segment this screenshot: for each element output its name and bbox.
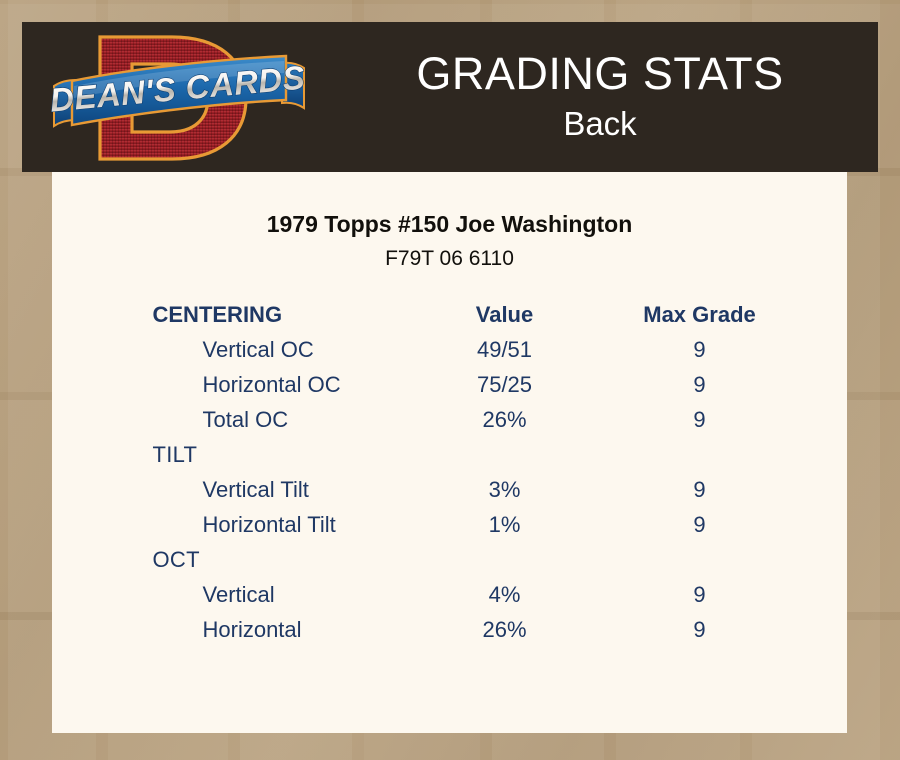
- stat-value: 75/25: [410, 367, 600, 402]
- table-row: Horizontal OC75/259: [100, 367, 800, 402]
- stat-value: 26%: [410, 402, 600, 437]
- card-heading: 1979 Topps #150 Joe Washington F79T 06 6…: [52, 172, 847, 272]
- column-header-max-grade: Max Grade: [600, 297, 800, 332]
- header-bar: DEAN'S CARDS GRADING STATS Back: [22, 22, 878, 172]
- stat-max-grade: 9: [600, 507, 800, 542]
- card-code: F79T 06 6110: [52, 245, 847, 272]
- column-header-value: Value: [410, 297, 600, 332]
- stat-max-grade: 9: [600, 612, 800, 647]
- stat-label: Vertical OC: [100, 332, 410, 367]
- table-row: Horizontal Tilt1%9: [100, 507, 800, 542]
- deans-cards-logo[interactable]: DEAN'S CARDS: [46, 24, 312, 172]
- stat-value: 3%: [410, 472, 600, 507]
- page-title: GRADING STATS: [416, 50, 783, 97]
- stat-max-grade: 9: [600, 367, 800, 402]
- section-header-row: OCT: [100, 542, 800, 577]
- stat-label: Vertical: [100, 577, 410, 612]
- table-head: CENTERING Value Max Grade: [100, 297, 800, 332]
- stat-label: Horizontal OC: [100, 367, 410, 402]
- table-row: Vertical Tilt3%9: [100, 472, 800, 507]
- page-subtitle: Back: [563, 103, 636, 144]
- stat-label: Horizontal: [100, 612, 410, 647]
- stat-label: Vertical Tilt: [100, 472, 410, 507]
- column-header-centering: CENTERING: [100, 297, 410, 332]
- stat-max-grade: 9: [600, 332, 800, 367]
- table-row: Vertical OC49/519: [100, 332, 800, 367]
- card-title: 1979 Topps #150 Joe Washington: [52, 210, 847, 239]
- stat-label: Total OC: [100, 402, 410, 437]
- stat-max-grade: 9: [600, 472, 800, 507]
- section-title: OCT: [100, 542, 800, 577]
- stat-label: Horizontal Tilt: [100, 507, 410, 542]
- header-title-block: GRADING STATS Back: [322, 22, 878, 172]
- content-panel: 1979 Topps #150 Joe Washington F79T 06 6…: [52, 172, 847, 733]
- deans-cards-logo-icon: DEAN'S CARDS: [46, 24, 312, 172]
- table-header-row: CENTERING Value Max Grade: [100, 297, 800, 332]
- stat-max-grade: 9: [600, 577, 800, 612]
- table-row: Horizontal26%9: [100, 612, 800, 647]
- grading-stats-table: CENTERING Value Max Grade Vertical OC49/…: [100, 297, 800, 647]
- stat-value: 49/51: [410, 332, 600, 367]
- table-row: Vertical4%9: [100, 577, 800, 612]
- section-title: TILT: [100, 437, 800, 472]
- stat-value: 1%: [410, 507, 600, 542]
- table-row: Total OC26%9: [100, 402, 800, 437]
- stat-max-grade: 9: [600, 402, 800, 437]
- stat-value: 4%: [410, 577, 600, 612]
- section-header-row: TILT: [100, 437, 800, 472]
- table-body: Vertical OC49/519Horizontal OC75/259Tota…: [100, 332, 800, 647]
- stat-value: 26%: [410, 612, 600, 647]
